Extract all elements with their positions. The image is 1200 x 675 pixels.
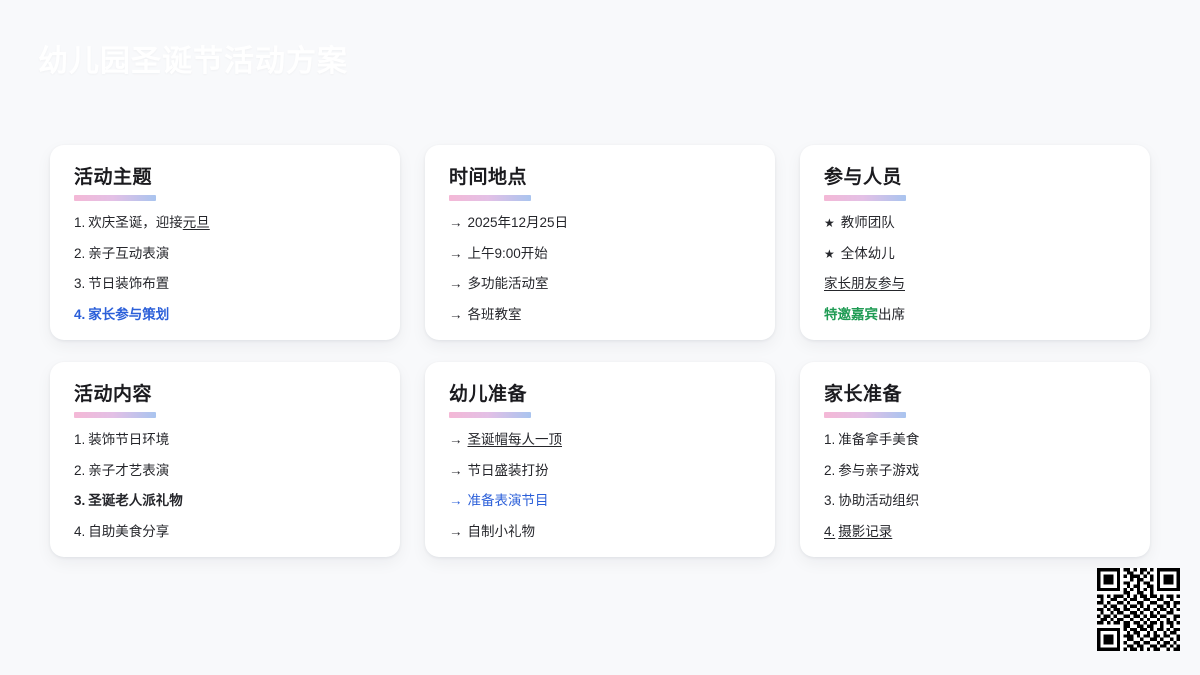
card-title: 活动主题 bbox=[74, 168, 152, 192]
title-underline-accent bbox=[449, 412, 531, 418]
list-item-text: 亲子才艺表演 bbox=[88, 463, 169, 478]
arrow-icon: → bbox=[449, 524, 463, 539]
list-number: 1. bbox=[74, 215, 85, 230]
arrow-icon: → bbox=[449, 215, 463, 230]
card-title: 活动内容 bbox=[74, 385, 152, 409]
list-item: 3.节日装饰布置 bbox=[74, 275, 376, 293]
list-item-text: 节日盛装打扮 bbox=[468, 463, 549, 478]
list-item: →自制小礼物 bbox=[449, 523, 751, 541]
list-item: 4.家长参与策划 bbox=[74, 306, 376, 324]
list-item: 家长朋友参与 bbox=[824, 275, 1126, 293]
card-list: →2025年12月25日→上午9:00开始→多功能活动室→各班教室 bbox=[449, 214, 751, 324]
star-icon: ★ bbox=[824, 247, 835, 261]
card-header: 活动主题 bbox=[74, 168, 376, 201]
list-number: 2. bbox=[824, 463, 835, 478]
list-item-text: 装饰节日环境 bbox=[88, 432, 169, 447]
list-number: 1. bbox=[824, 432, 835, 447]
list-item-text: 圣诞老人派礼物 bbox=[88, 493, 183, 508]
list-item: 特邀嘉宾出席 bbox=[824, 306, 1126, 324]
list-item-text: 全体幼儿 bbox=[841, 246, 895, 261]
list-number: 1. bbox=[74, 432, 85, 447]
info-card: 时间地点→2025年12月25日→上午9:00开始→多功能活动室→各班教室 bbox=[425, 145, 775, 340]
list-item-text: 特邀嘉宾 bbox=[824, 307, 878, 322]
list-item: →各班教室 bbox=[449, 306, 751, 324]
list-item-text: 自制小礼物 bbox=[468, 524, 536, 539]
qr-code[interactable] bbox=[1097, 568, 1180, 651]
card-header: 幼儿准备 bbox=[449, 385, 751, 418]
list-item: 4.摄影记录 bbox=[824, 523, 1126, 541]
card-list: 1.欢庆圣诞，迎接元旦2.亲子互动表演3.节日装饰布置4.家长参与策划 bbox=[74, 214, 376, 324]
list-item: 3.协助活动组织 bbox=[824, 492, 1126, 510]
card-grid: 活动主题1.欢庆圣诞，迎接元旦2.亲子互动表演3.节日装饰布置4.家长参与策划时… bbox=[50, 145, 1150, 557]
title-underline-accent bbox=[74, 195, 156, 201]
card-list: →圣诞帽每人一顶→节日盛装打扮→准备表演节目→自制小礼物 bbox=[449, 431, 751, 541]
list-item: ★全体幼儿 bbox=[824, 245, 1126, 263]
list-item: →节日盛装打扮 bbox=[449, 462, 751, 480]
list-number: 3. bbox=[74, 493, 85, 508]
title-underline-accent bbox=[824, 195, 906, 201]
card-header: 时间地点 bbox=[449, 168, 751, 201]
list-item: →上午9:00开始 bbox=[449, 245, 751, 263]
card-list: 1.装饰节日环境2.亲子才艺表演3.圣诞老人派礼物4.自助美食分享 bbox=[74, 431, 376, 541]
list-item: 3.圣诞老人派礼物 bbox=[74, 492, 376, 510]
arrow-icon: → bbox=[449, 276, 463, 291]
card-header: 参与人员 bbox=[824, 168, 1126, 201]
arrow-icon: → bbox=[449, 307, 463, 322]
list-item-text: 节日装饰布置 bbox=[88, 276, 169, 291]
list-item-text: 欢庆圣诞，迎接 bbox=[88, 215, 183, 230]
list-item-text: 家长参与策划 bbox=[88, 307, 169, 322]
list-item: →准备表演节目 bbox=[449, 492, 751, 510]
list-item-text: 各班教室 bbox=[468, 307, 522, 322]
info-card: 幼儿准备→圣诞帽每人一顶→节日盛装打扮→准备表演节目→自制小礼物 bbox=[425, 362, 775, 557]
title-underline-accent bbox=[824, 412, 906, 418]
arrow-icon: → bbox=[449, 463, 463, 478]
list-item-text: 2025年12月25日 bbox=[468, 215, 569, 230]
info-card: 参与人员★教师团队★全体幼儿家长朋友参与特邀嘉宾出席 bbox=[800, 145, 1150, 340]
list-item-text: 教师团队 bbox=[841, 215, 895, 230]
list-item-text: 上午9:00开始 bbox=[468, 246, 548, 261]
list-item-text: 多功能活动室 bbox=[468, 276, 549, 291]
title-underline-accent bbox=[449, 195, 531, 201]
list-item: 4.自助美食分享 bbox=[74, 523, 376, 541]
arrow-icon: → bbox=[449, 432, 463, 447]
info-card: 活动主题1.欢庆圣诞，迎接元旦2.亲子互动表演3.节日装饰布置4.家长参与策划 bbox=[50, 145, 400, 340]
card-header: 家长准备 bbox=[824, 385, 1126, 418]
list-item-text: 协助活动组织 bbox=[838, 493, 919, 508]
list-number: 2. bbox=[74, 463, 85, 478]
list-number: 4. bbox=[824, 524, 835, 539]
list-item: →2025年12月25日 bbox=[449, 214, 751, 232]
card-title: 参与人员 bbox=[824, 168, 902, 192]
list-number: 4. bbox=[74, 524, 85, 539]
star-icon: ★ bbox=[824, 216, 835, 230]
page-title: 幼儿园圣诞节活动方案 bbox=[38, 36, 348, 80]
list-number: 3. bbox=[824, 493, 835, 508]
list-item-text: 准备表演节目 bbox=[468, 493, 549, 508]
list-number: 2. bbox=[74, 246, 85, 261]
list-item-text: 元旦 bbox=[183, 215, 210, 230]
arrow-icon: → bbox=[449, 493, 463, 508]
arrow-icon: → bbox=[449, 246, 463, 261]
card-title: 家长准备 bbox=[824, 385, 902, 409]
card-title: 时间地点 bbox=[449, 168, 527, 192]
list-item: →多功能活动室 bbox=[449, 275, 751, 293]
list-item: 1.装饰节日环境 bbox=[74, 431, 376, 449]
list-item: 2.亲子才艺表演 bbox=[74, 462, 376, 480]
list-item-text: 摄影记录 bbox=[838, 524, 892, 539]
list-item: →圣诞帽每人一顶 bbox=[449, 431, 751, 449]
list-item: ★教师团队 bbox=[824, 214, 1126, 232]
list-item: 2.亲子互动表演 bbox=[74, 245, 376, 263]
card-list: ★教师团队★全体幼儿家长朋友参与特邀嘉宾出席 bbox=[824, 214, 1126, 324]
list-item: 2.参与亲子游戏 bbox=[824, 462, 1126, 480]
card-title: 幼儿准备 bbox=[449, 385, 527, 409]
list-item-text: 准备拿手美食 bbox=[838, 432, 919, 447]
list-item-text: 圣诞帽每人一顶 bbox=[468, 432, 563, 447]
card-list: 1.准备拿手美食2.参与亲子游戏3.协助活动组织4.摄影记录 bbox=[824, 431, 1126, 541]
info-card: 活动内容1.装饰节日环境2.亲子才艺表演3.圣诞老人派礼物4.自助美食分享 bbox=[50, 362, 400, 557]
card-header: 活动内容 bbox=[74, 385, 376, 418]
title-underline-accent bbox=[74, 412, 156, 418]
list-number: 3. bbox=[74, 276, 85, 291]
list-item-text: 家长朋友参与 bbox=[824, 276, 905, 291]
list-item-text: 出席 bbox=[878, 307, 905, 322]
list-item: 1.欢庆圣诞，迎接元旦 bbox=[74, 214, 376, 232]
list-item: 1.准备拿手美食 bbox=[824, 431, 1126, 449]
list-item-text: 参与亲子游戏 bbox=[838, 463, 919, 478]
list-number: 4. bbox=[74, 307, 85, 322]
info-card: 家长准备1.准备拿手美食2.参与亲子游戏3.协助活动组织4.摄影记录 bbox=[800, 362, 1150, 557]
list-item-text: 自助美食分享 bbox=[88, 524, 169, 539]
list-item-text: 亲子互动表演 bbox=[88, 246, 169, 261]
